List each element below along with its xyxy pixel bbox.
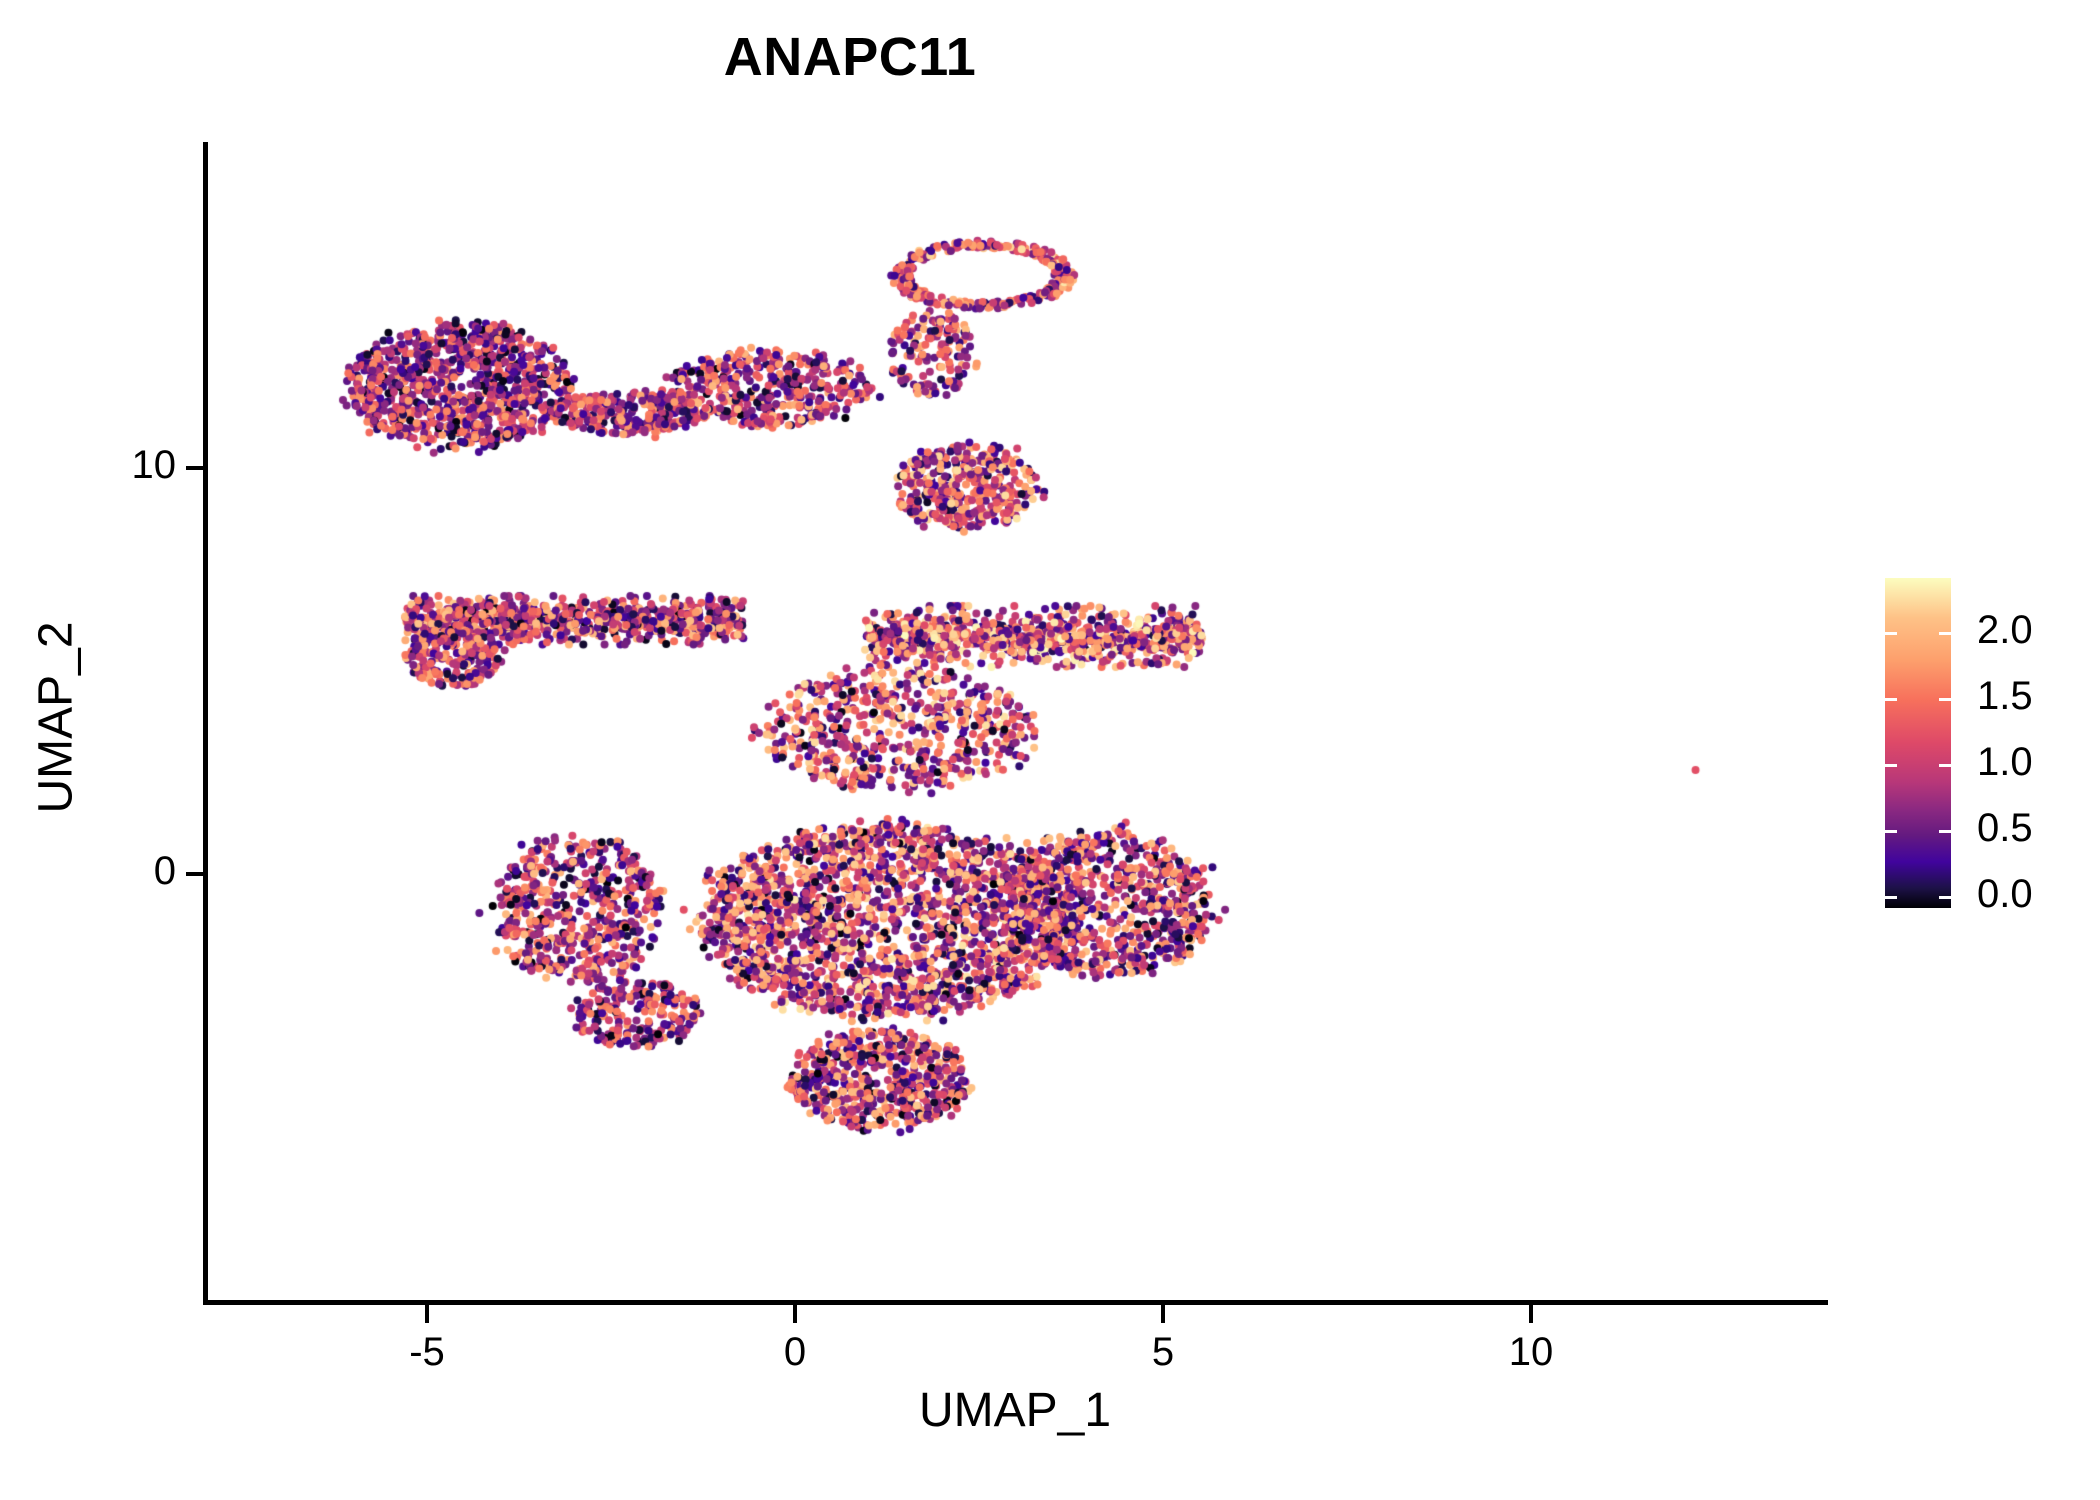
x-axis-line (203, 1300, 1828, 1305)
x-axis-title: UMAP_1 (855, 1383, 1175, 1438)
colorbar-tick-0.5-right (1939, 830, 1951, 833)
colorbar-label-0.0: 0.0 (1977, 872, 2033, 917)
x-tick-label--5: -5 (367, 1330, 487, 1375)
colorbar-tick-0.0-left (1885, 896, 1897, 899)
y-axis-line (203, 142, 208, 1305)
colorbar-tick-2.0-right (1939, 632, 1951, 635)
colorbar-tick-0.0-right (1939, 896, 1951, 899)
colorbar-label-0.5: 0.5 (1977, 806, 2033, 851)
colorbar-tick-0.5-left (1885, 830, 1897, 833)
colorbar-tick-1.5-right (1939, 698, 1951, 701)
colorbar-label-1.5: 1.5 (1977, 674, 2033, 719)
colorbar-label-1.0: 1.0 (1977, 740, 2033, 785)
x-tick-label-10: 10 (1471, 1330, 1591, 1375)
x-tick-mark-0 (793, 1305, 797, 1323)
colorbar-tick-1.0-right (1939, 764, 1951, 767)
y-tick-mark-10 (186, 466, 204, 470)
colorbar-label-2.0: 2.0 (1977, 608, 2033, 653)
x-tick-label-5: 5 (1103, 1330, 1223, 1375)
colorbar-tick-1.5-left (1885, 698, 1897, 701)
x-tick-label-0: 0 (735, 1330, 855, 1375)
y-tick-label-10: 10 (56, 443, 176, 488)
colorbar-tick-1.0-left (1885, 764, 1897, 767)
chart-root: ANAPC11 10 0 -5 0 5 10 UMAP_1 UMAP_2 2.0… (0, 0, 2100, 1500)
colorbar-tick-2.0-left (1885, 632, 1897, 635)
colorbar-gradient (1885, 578, 1951, 908)
y-axis-title: UMAP_2 (29, 558, 84, 878)
x-tick-mark-5 (1161, 1305, 1165, 1323)
y-tick-mark-0 (186, 872, 204, 876)
scatter-plot-canvas (0, 0, 2100, 1500)
x-tick-mark--5 (425, 1305, 429, 1323)
x-tick-mark-10 (1529, 1305, 1533, 1323)
colorbar-legend: 2.0 1.5 1.0 0.5 0.0 (1885, 578, 2095, 908)
